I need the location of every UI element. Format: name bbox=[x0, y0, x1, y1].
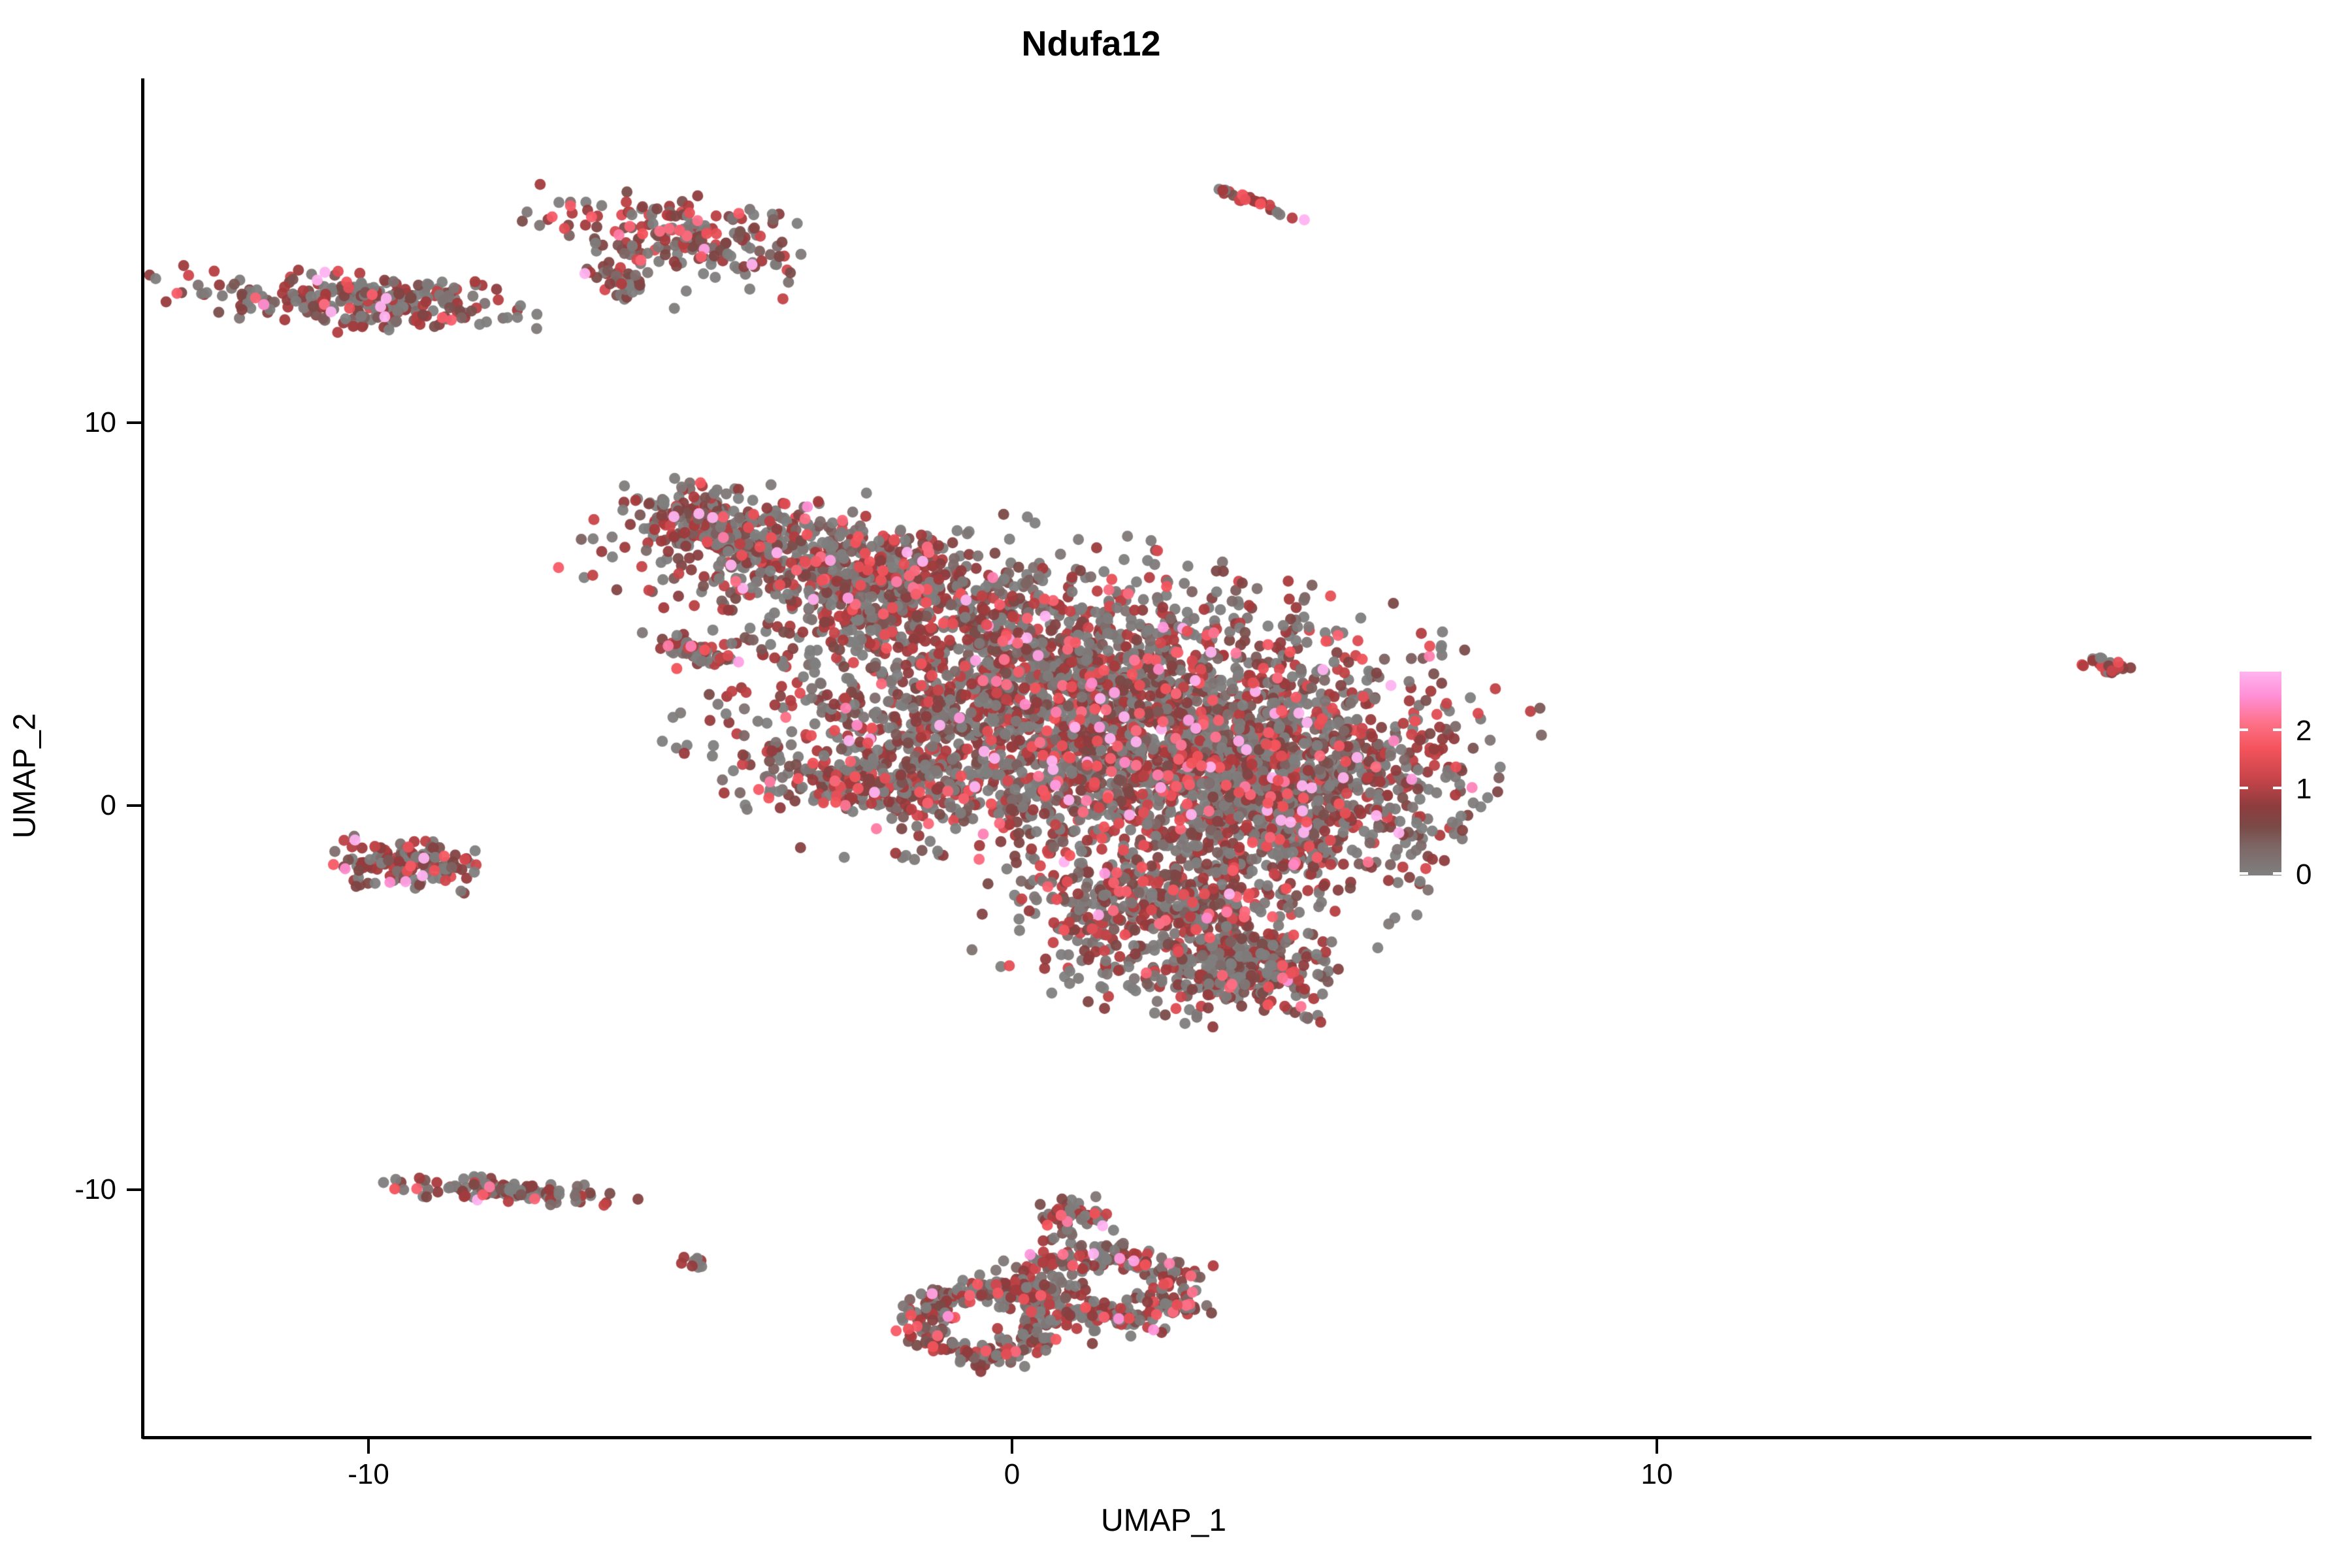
colorbar-label: 1 bbox=[2296, 773, 2311, 806]
y-tick-label: 0 bbox=[101, 789, 116, 822]
x-tick-label: -10 bbox=[348, 1458, 389, 1491]
y-axis-line bbox=[141, 78, 144, 1439]
colorbar-tick bbox=[2240, 872, 2248, 875]
colorbar-gradient bbox=[2240, 672, 2281, 875]
y-tick-mark bbox=[127, 804, 141, 807]
colorbar-label: 2 bbox=[2296, 715, 2311, 747]
x-tick-mark bbox=[1656, 1439, 1658, 1454]
x-tick-label: 10 bbox=[1641, 1458, 1673, 1491]
x-axis-title: UMAP_1 bbox=[144, 1503, 2183, 1539]
feature-plot-figure: Ndufa12 -10 0 10 10 0 -10 UMAP_1 UMAP_2 … bbox=[0, 0, 2352, 1568]
y-tick-label: 10 bbox=[84, 406, 116, 439]
scatter-points-layer bbox=[144, 78, 2183, 1437]
colorbar-tick bbox=[2273, 728, 2281, 731]
x-tick-mark bbox=[1011, 1439, 1013, 1454]
colorbar-legend: 2 1 0 bbox=[2240, 672, 2338, 881]
y-tick-label: -10 bbox=[74, 1173, 116, 1206]
page-title: Ndufa12 bbox=[0, 24, 2182, 64]
colorbar-tick bbox=[2240, 728, 2248, 731]
y-tick-mark bbox=[127, 1188, 141, 1191]
colorbar-tick bbox=[2273, 787, 2281, 789]
x-tick-mark bbox=[367, 1439, 370, 1454]
scatter-plot-panel bbox=[144, 78, 2183, 1437]
x-tick-label: 0 bbox=[1004, 1458, 1020, 1491]
y-axis-title: UMAP_2 bbox=[7, 574, 43, 979]
colorbar-label: 0 bbox=[2296, 858, 2311, 891]
colorbar-tick bbox=[2240, 787, 2248, 789]
y-tick-mark bbox=[127, 421, 141, 424]
x-axis-line bbox=[142, 1436, 2311, 1439]
colorbar-tick bbox=[2273, 872, 2281, 875]
